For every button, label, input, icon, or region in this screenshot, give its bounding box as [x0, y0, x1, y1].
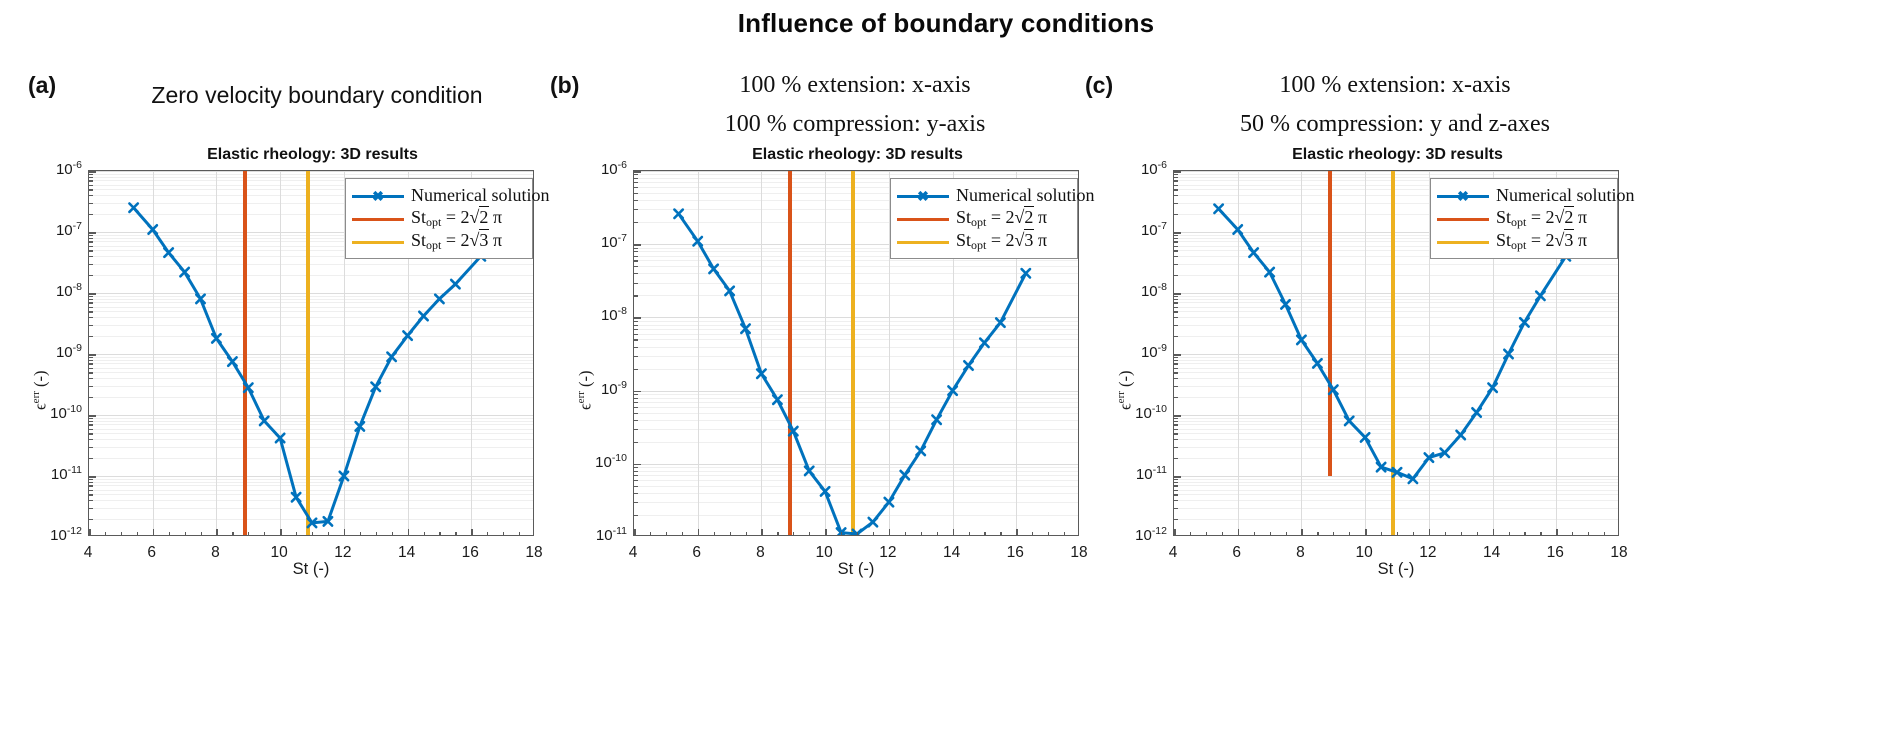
- y-tick-mark-minor: [1174, 397, 1178, 398]
- y-tick-mark-minor: [89, 424, 93, 425]
- y-label-unit: (-): [1116, 370, 1135, 391]
- legend-entry[interactable]: ✖Numerical solution: [897, 184, 1069, 207]
- y-tick-mark-minor: [634, 174, 638, 175]
- y-tick-label: 10-6: [1099, 159, 1167, 178]
- panel-b-label: (b): [550, 72, 579, 99]
- y-tick-mark: [634, 244, 641, 246]
- panel-c-caption: 100 % extension: x-axis 50 % compression…: [1160, 66, 1630, 144]
- panel-a-legend[interactable]: ✖Numerical solutionStopt = 2√2 πStopt = …: [345, 178, 533, 259]
- x-tick-mark-minor: [1000, 532, 1001, 536]
- y-tick-mark-minor: [634, 471, 638, 472]
- y-tick-mark-minor: [634, 325, 638, 326]
- x-tick-mark: [89, 529, 91, 535]
- x-tick-mark-minor: [121, 532, 122, 536]
- x-tick-mark-minor: [1461, 532, 1462, 536]
- x-tick-mark-minor: [137, 532, 138, 536]
- y-tick-mark: [1174, 171, 1181, 173]
- y-tick-mark-minor: [89, 238, 93, 239]
- y-tick-mark: [1174, 476, 1181, 478]
- legend-swatch: ✖: [1437, 189, 1489, 203]
- y-tick-mark-minor: [89, 189, 93, 190]
- y-tick-mark-minor: [89, 508, 93, 509]
- x-tick-mark: [889, 529, 891, 535]
- y-tick-label: 10-11: [559, 525, 627, 544]
- y-tick-mark-minor: [634, 407, 638, 408]
- y-label-epsilon: ϵ: [576, 403, 595, 410]
- legend-label: Numerical solution: [411, 185, 549, 206]
- y-tick-mark: [89, 171, 96, 173]
- y-tick-mark-minor: [634, 493, 638, 494]
- data-point-marker: [149, 225, 157, 233]
- y-tick-mark-minor: [89, 421, 93, 422]
- panel-a-caption: Zero velocity boundary condition: [92, 82, 542, 109]
- x-tick-mark-minor: [1032, 532, 1033, 536]
- figure-canvas: Influence of boundary conditions (a) Zer…: [0, 0, 1892, 731]
- y-tick-mark-minor: [89, 296, 93, 297]
- y-tick-mark: [634, 171, 641, 173]
- y-tick-mark-minor: [634, 334, 638, 335]
- x-tick-mark-minor: [777, 532, 778, 536]
- data-point-marker: [403, 331, 411, 339]
- y-tick-label: 10-11: [1099, 464, 1167, 483]
- x-tick-mark: [698, 529, 700, 535]
- y-tick-mark-minor: [1174, 424, 1178, 425]
- y-tick-mark-minor: [634, 260, 638, 261]
- x-tick-mark-minor: [248, 532, 249, 536]
- y-tick-mark-minor: [89, 241, 93, 242]
- y-tick-mark-minor: [1174, 458, 1178, 459]
- x-tick-mark: [471, 529, 473, 535]
- y-tick-mark-minor: [1174, 378, 1178, 379]
- x-tick-mark-minor: [793, 532, 794, 536]
- x-tick-mark-minor: [312, 532, 313, 536]
- y-tick-mark-minor: [634, 356, 638, 357]
- legend-swatch: [1437, 212, 1489, 226]
- legend-swatch: [352, 212, 404, 226]
- x-tick-mark-minor: [169, 532, 170, 536]
- y-tick-mark-minor: [1174, 264, 1178, 265]
- x-tick-mark-minor: [392, 532, 393, 536]
- y-tick-mark-minor: [89, 418, 93, 419]
- x-tick-mark: [1556, 529, 1558, 535]
- y-tick-mark-minor: [1174, 203, 1178, 204]
- y-tick-mark: [89, 232, 96, 234]
- y-tick-mark-minor: [89, 264, 93, 265]
- y-tick-label: 10-7: [14, 220, 82, 239]
- y-tick-mark-minor: [634, 266, 638, 267]
- y-tick-mark: [634, 391, 641, 393]
- panel-c-caption-line-1: 100 % extension: x-axis: [1160, 66, 1630, 105]
- y-tick-mark-minor: [634, 295, 638, 296]
- x-tick-mark-minor: [105, 532, 106, 536]
- y-tick-mark-minor: [89, 177, 93, 178]
- legend-marker-icon: ✖: [917, 189, 929, 203]
- legend-entry[interactable]: Stopt = 2√2 π: [1437, 207, 1609, 230]
- y-tick-mark-minor: [1174, 296, 1178, 297]
- x-tick-mark: [344, 529, 346, 535]
- y-tick-mark: [89, 293, 96, 295]
- panel-b-legend[interactable]: ✖Numerical solutionStopt = 2√2 πStopt = …: [890, 178, 1078, 259]
- y-tick-mark-minor: [634, 347, 638, 348]
- legend-label: Numerical solution: [1496, 185, 1634, 206]
- y-tick-mark-minor: [89, 185, 93, 186]
- y-tick-mark-minor: [89, 256, 93, 257]
- y-tick-mark-minor: [634, 222, 638, 223]
- y-tick-mark-minor: [634, 321, 638, 322]
- x-tick-mark-minor: [1317, 532, 1318, 536]
- y-tick-mark-minor: [89, 195, 93, 196]
- y-tick-label: 10-8: [14, 281, 82, 300]
- y-tick-mark-minor: [634, 398, 638, 399]
- legend-label: Stopt = 2√2 π: [1496, 207, 1587, 230]
- y-tick-mark-minor: [1174, 180, 1178, 181]
- x-tick-mark-minor: [1477, 532, 1478, 536]
- y-tick-mark-minor: [1174, 214, 1178, 215]
- y-tick-mark-minor: [1174, 195, 1178, 196]
- x-tick-mark-minor: [873, 532, 874, 536]
- y-tick-label: 10-6: [14, 159, 82, 178]
- y-tick-mark-minor: [1174, 439, 1178, 440]
- x-tick-mark: [761, 529, 763, 535]
- panel-b-x-axis-label: St (-): [633, 560, 1079, 579]
- y-tick-mark-minor: [1174, 299, 1178, 300]
- x-tick-mark-minor: [1381, 532, 1382, 536]
- y-tick-label: 10-11: [14, 464, 82, 483]
- legend-entry[interactable]: Stopt = 2√2 π: [897, 207, 1069, 230]
- y-tick-mark-minor: [89, 174, 93, 175]
- y-tick-mark-minor: [89, 479, 93, 480]
- y-tick-mark-minor: [89, 519, 93, 520]
- y-tick-mark: [1174, 293, 1181, 295]
- data-point-marker: [1313, 359, 1321, 367]
- y-tick-mark-minor: [1174, 490, 1178, 491]
- x-tick-mark-minor: [1333, 532, 1334, 536]
- y-tick-mark-minor: [1174, 421, 1178, 422]
- legend-label: Stopt = 2√3 π: [1496, 230, 1587, 253]
- y-tick-mark-minor: [89, 482, 93, 483]
- y-tick-mark-minor: [1174, 372, 1178, 373]
- y-tick-mark-minor: [1174, 433, 1178, 434]
- y-tick-mark-minor: [1174, 174, 1178, 175]
- panel-b-caption-line-1: 100 % extension: x-axis: [625, 66, 1085, 105]
- y-tick-mark-minor: [89, 368, 93, 369]
- legend-swatch: [1437, 235, 1489, 249]
- x-tick-mark-minor: [1413, 532, 1414, 536]
- y-tick-mark-minor: [89, 235, 93, 236]
- x-tick-mark-minor: [1286, 532, 1287, 536]
- y-tick-mark-minor: [89, 275, 93, 276]
- y-tick-mark-minor: [634, 329, 638, 330]
- x-tick-mark-minor: [1540, 532, 1541, 536]
- x-tick-mark-minor: [841, 532, 842, 536]
- y-tick-mark-minor: [1174, 246, 1178, 247]
- y-tick-mark-minor: [89, 311, 93, 312]
- x-tick-mark: [1429, 529, 1431, 535]
- x-tick-mark-minor: [1222, 532, 1223, 536]
- y-tick-mark-minor: [634, 515, 638, 516]
- y-tick-mark-minor: [1174, 336, 1178, 337]
- y-tick-mark: [89, 415, 96, 417]
- data-point-marker: [869, 518, 877, 526]
- y-tick-mark-minor: [89, 429, 93, 430]
- y-tick-mark-minor: [89, 485, 93, 486]
- panel-b-caption-line-2: 100 % compression: y-axis: [625, 105, 1085, 144]
- y-tick-mark-minor: [89, 458, 93, 459]
- y-label-sup: err: [30, 391, 42, 403]
- y-tick-mark-minor: [89, 372, 93, 373]
- x-tick-mark-minor: [1270, 532, 1271, 536]
- legend-entry[interactable]: ✖Numerical solution: [1437, 184, 1609, 207]
- data-point-marker: [435, 295, 443, 303]
- x-tick-mark-minor: [439, 532, 440, 536]
- panel-a-x-axis-label: St (-): [88, 560, 534, 579]
- x-tick-mark-minor: [1445, 532, 1446, 536]
- x-tick-mark-minor: [487, 532, 488, 536]
- y-tick-mark-minor: [634, 467, 638, 468]
- x-tick-mark-minor: [921, 532, 922, 536]
- y-tick-mark-minor: [1174, 189, 1178, 190]
- y-tick-mark: [1174, 354, 1181, 356]
- y-label-sup: err: [1115, 391, 1127, 403]
- y-tick-mark-minor: [89, 439, 93, 440]
- x-tick-mark-minor: [1254, 532, 1255, 536]
- x-tick-mark: [280, 529, 282, 535]
- y-tick-mark-minor: [634, 413, 638, 414]
- y-tick-mark: [1174, 415, 1181, 417]
- y-tick-mark-minor: [89, 317, 93, 318]
- x-tick-mark-minor: [1190, 532, 1191, 536]
- x-tick-mark-minor: [666, 532, 667, 536]
- legend-label: Stopt = 2√3 π: [956, 230, 1047, 253]
- y-tick-mark-minor: [1174, 368, 1178, 369]
- y-tick-label: 10-12: [14, 525, 82, 544]
- y-label-sup: err: [575, 391, 587, 403]
- legend-swatch: [897, 212, 949, 226]
- y-tick-mark-minor: [89, 378, 93, 379]
- y-tick-mark-minor: [634, 394, 638, 395]
- x-tick-mark-minor: [503, 532, 504, 536]
- y-label-epsilon: ϵ: [31, 403, 50, 410]
- y-tick-mark: [89, 354, 96, 356]
- x-tick-mark-minor: [1064, 532, 1065, 536]
- x-tick-mark-minor: [360, 532, 361, 536]
- y-tick-label: 10-9: [14, 342, 82, 361]
- x-tick-mark-minor: [1397, 532, 1398, 536]
- y-tick-mark: [89, 476, 96, 478]
- y-tick-mark-minor: [634, 200, 638, 201]
- y-tick-mark-minor: [89, 307, 93, 308]
- y-tick-mark-minor: [89, 203, 93, 204]
- y-tick-mark-minor: [634, 442, 638, 443]
- y-tick-label: 10-7: [559, 232, 627, 251]
- curve-path: [679, 214, 1026, 534]
- y-tick-mark-minor: [1174, 256, 1178, 257]
- y-tick-mark-minor: [634, 178, 638, 179]
- y-tick-mark-minor: [1174, 275, 1178, 276]
- y-label-unit: (-): [576, 370, 595, 391]
- y-tick-mark-minor: [634, 475, 638, 476]
- y-tick-mark-minor: [1174, 238, 1178, 239]
- y-tick-label: 10-10: [559, 452, 627, 471]
- x-tick-mark: [1174, 529, 1176, 535]
- legend-marker-icon: ✖: [372, 189, 384, 203]
- y-tick-mark-minor: [1174, 508, 1178, 509]
- y-tick-mark-minor: [89, 490, 93, 491]
- x-tick-mark-minor: [1572, 532, 1573, 536]
- legend-entry[interactable]: Stopt = 2√2 π: [352, 207, 524, 230]
- x-tick-mark-minor: [746, 532, 747, 536]
- x-tick-mark: [1301, 529, 1303, 535]
- panel-a-axes-title: Elastic rheology: 3D results: [90, 146, 535, 164]
- x-tick-mark-minor: [905, 532, 906, 536]
- y-tick-mark-minor: [89, 214, 93, 215]
- legend-entry[interactable]: ✖Numerical solution: [352, 184, 524, 207]
- panel-c-legend[interactable]: ✖Numerical solutionStopt = 2√2 πStopt = …: [1430, 178, 1618, 259]
- legend-label: Stopt = 2√3 π: [411, 230, 502, 253]
- y-tick-mark-minor: [634, 486, 638, 487]
- y-tick-mark-minor: [1174, 250, 1178, 251]
- x-tick-mark-minor: [201, 532, 202, 536]
- y-tick-mark-minor: [89, 397, 93, 398]
- y-tick-label: 10-8: [1099, 281, 1167, 300]
- legend-swatch: [897, 235, 949, 249]
- y-tick-mark-minor: [634, 502, 638, 503]
- x-tick-mark-minor: [1048, 532, 1049, 536]
- x-tick-mark: [1493, 529, 1495, 535]
- y-tick-mark-minor: [634, 187, 638, 188]
- y-tick-mark-minor: [1174, 485, 1178, 486]
- y-tick-label: 10-6: [559, 159, 627, 178]
- y-tick-mark-minor: [1174, 177, 1178, 178]
- x-tick-mark: [953, 529, 955, 535]
- data-point-marker: [180, 268, 188, 276]
- legend-label: Numerical solution: [956, 185, 1094, 206]
- x-tick-mark: [825, 529, 827, 535]
- y-tick-label: 10-12: [1099, 525, 1167, 544]
- y-tick-mark-minor: [1174, 479, 1178, 480]
- y-tick-mark-minor: [89, 360, 93, 361]
- legend-label: Stopt = 2√2 π: [956, 207, 1047, 230]
- x-tick-mark-minor: [376, 532, 377, 536]
- y-tick-mark-minor: [634, 420, 638, 421]
- panel-b-y-axis-label: ϵerr (-): [575, 370, 596, 410]
- panel-c-axes-title: Elastic rheology: 3D results: [1175, 146, 1620, 164]
- x-tick-mark-minor: [730, 532, 731, 536]
- legend-swatch: ✖: [352, 189, 404, 203]
- y-tick-mark-minor: [89, 180, 93, 181]
- y-tick-mark-minor: [89, 447, 93, 448]
- x-tick-mark-minor: [519, 532, 520, 536]
- data-point-marker: [1457, 431, 1465, 439]
- data-point-marker: [1536, 292, 1544, 300]
- y-tick-mark-minor: [1174, 307, 1178, 308]
- panel-c-x-axis-label: St (-): [1173, 560, 1619, 579]
- legend-marker-icon: ✖: [1457, 189, 1469, 203]
- x-tick-mark-minor: [809, 532, 810, 536]
- y-tick-label: 10-7: [1099, 220, 1167, 239]
- y-tick-mark-minor: [1174, 325, 1178, 326]
- x-tick-mark-minor: [185, 532, 186, 536]
- data-point-marker: [1472, 408, 1480, 416]
- data-point-marker: [129, 204, 137, 212]
- x-tick-mark-minor: [1206, 532, 1207, 536]
- y-tick-mark-minor: [1174, 241, 1178, 242]
- y-label-unit: (-): [31, 370, 50, 391]
- legend-entry[interactable]: Stopt = 2√3 π: [352, 230, 524, 253]
- x-tick-mark-minor: [650, 532, 651, 536]
- legend-entry[interactable]: Stopt = 2√3 π: [1437, 230, 1609, 253]
- y-tick-mark-minor: [634, 273, 638, 274]
- y-tick-mark-minor: [634, 193, 638, 194]
- y-tick-mark-minor: [634, 339, 638, 340]
- x-tick-mark: [1016, 529, 1018, 535]
- y-tick-mark-minor: [89, 386, 93, 387]
- y-tick-mark-minor: [634, 369, 638, 370]
- panel-c: (c) 100 % extension: x-axis 50 % compres…: [1285, 0, 1892, 731]
- y-tick-mark-minor: [1174, 317, 1178, 318]
- panel-a-y-axis-label: ϵerr (-): [30, 370, 51, 410]
- data-point-marker: [451, 280, 459, 288]
- y-tick-mark-minor: [89, 336, 93, 337]
- y-tick-mark-minor: [634, 209, 638, 210]
- y-tick-mark-minor: [634, 429, 638, 430]
- y-tick-mark-minor: [89, 433, 93, 434]
- data-point-marker: [1234, 225, 1242, 233]
- y-tick-mark-minor: [89, 302, 93, 303]
- y-label-epsilon: ϵ: [1116, 403, 1135, 410]
- x-tick-mark-minor: [424, 532, 425, 536]
- x-tick-mark-minor: [714, 532, 715, 536]
- x-tick-mark-minor: [1349, 532, 1350, 536]
- panel-c-label: (c): [1085, 72, 1113, 99]
- data-point-marker: [980, 339, 988, 347]
- x-tick-mark-minor: [1604, 532, 1605, 536]
- y-tick-mark-minor: [1174, 494, 1178, 495]
- x-tick-mark-minor: [1524, 532, 1525, 536]
- y-tick-mark-minor: [634, 402, 638, 403]
- y-tick-mark: [634, 317, 641, 319]
- legend-entry[interactable]: Stopt = 2√3 π: [897, 230, 1069, 253]
- x-tick-mark-minor: [455, 532, 456, 536]
- panel-c-y-axis-label: ϵerr (-): [1115, 370, 1136, 410]
- y-tick-mark-minor: [1174, 360, 1178, 361]
- data-point-marker: [228, 357, 236, 365]
- x-tick-mark-minor: [328, 532, 329, 536]
- data-point-marker: [1249, 248, 1257, 256]
- x-tick-mark: [1365, 529, 1367, 535]
- panel-c-caption-line-2: 50 % compression: y and z-axes: [1160, 105, 1630, 144]
- x-tick-mark-minor: [969, 532, 970, 536]
- y-tick-mark-minor: [1174, 311, 1178, 312]
- y-tick-mark-minor: [1174, 363, 1178, 364]
- y-tick-mark-minor: [1174, 429, 1178, 430]
- y-tick-mark-minor: [634, 283, 638, 284]
- data-point-marker: [674, 210, 682, 218]
- y-tick-mark-minor: [1174, 519, 1178, 520]
- y-tick-mark-minor: [1174, 500, 1178, 501]
- legend-label: Stopt = 2√2 π: [411, 207, 502, 230]
- data-point-marker: [964, 361, 972, 369]
- y-tick-mark-minor: [89, 357, 93, 358]
- panel-b-caption: 100 % extension: x-axis 100 % compressio…: [625, 66, 1085, 144]
- x-tick-mark-minor: [682, 532, 683, 536]
- y-tick-mark-minor: [1174, 447, 1178, 448]
- legend-swatch: ✖: [897, 189, 949, 203]
- y-tick-mark-minor: [634, 480, 638, 481]
- y-tick-mark-minor: [634, 182, 638, 183]
- y-tick-mark-minor: [634, 256, 638, 257]
- x-tick-mark: [1238, 529, 1240, 535]
